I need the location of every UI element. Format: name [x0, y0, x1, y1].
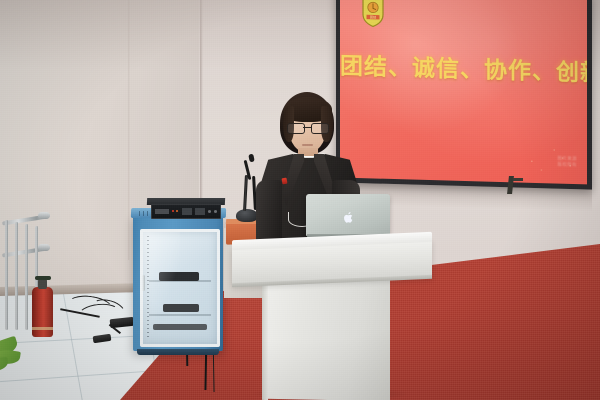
cabinet-glass-door[interactable]	[140, 229, 220, 347]
potted-plant-leaves	[0, 336, 32, 376]
white-lectern	[232, 236, 432, 400]
extinguisher-handle	[35, 276, 51, 280]
mouth	[302, 144, 313, 146]
extinguisher-label-band	[32, 327, 53, 330]
rack-mount-amplifier[interactable]	[147, 198, 225, 218]
eyeglass-lens-left	[287, 123, 305, 134]
red-lapel-pin	[282, 178, 288, 185]
svg-text:团结: 团结	[370, 14, 376, 19]
eyeglass-bridge	[303, 127, 311, 128]
screen-mount-bracket-arm	[513, 178, 523, 181]
amplifier-led	[176, 210, 178, 212]
organization-shield-emblem: ★ UNION ★ 团结	[361, 0, 385, 28]
amplifier-control-block[interactable]	[182, 208, 192, 215]
laptop-lid	[306, 194, 390, 236]
railing-post	[15, 222, 18, 330]
amplifier-display	[155, 209, 169, 214]
railing-post	[5, 220, 8, 330]
av-equipment-cabinet[interactable]	[133, 215, 223, 351]
slide-watermark-line2: 版权所有	[557, 162, 577, 169]
amplifier-knob[interactable]	[214, 210, 217, 213]
fire-extinguisher	[32, 275, 53, 337]
cabinet-base	[137, 349, 219, 355]
railing-post	[25, 224, 28, 330]
apple-logo	[344, 210, 354, 221]
extinguisher-neck	[38, 279, 47, 289]
slide-watermark: 图片来源 版权所有	[557, 156, 577, 169]
cabinet-door-handle[interactable]	[142, 275, 145, 291]
eyeglasses-icon	[287, 123, 329, 133]
plant-leaf	[0, 357, 9, 372]
projection-screen[interactable]: ★ UNION ★ 团结 团结、诚信、协作、创新 图片来源 版权所有	[336, 0, 592, 190]
glass-door-glare	[140, 229, 180, 347]
podium-column-edge	[262, 280, 268, 400]
amplifier-control-block[interactable]	[195, 208, 205, 215]
presentation-room-photo: ★ UNION ★ 团结 团结、诚信、协作、创新 图片来源 版权所有	[0, 0, 600, 400]
projection-screen-surface: ★ UNION ★ 团结 团结、诚信、协作、创新 图片来源 版权所有	[340, 0, 587, 184]
podium-column	[266, 278, 390, 400]
eyeglass-lens-right	[311, 123, 329, 134]
railing-end-cap	[38, 212, 50, 219]
amplifier-front-panel	[151, 204, 221, 219]
railing-end-cap	[38, 244, 50, 251]
amplifier-led	[172, 210, 174, 212]
slide-title-text: 团结、诚信、协作、创新	[340, 47, 587, 88]
amplifier-knob[interactable]	[208, 210, 211, 213]
